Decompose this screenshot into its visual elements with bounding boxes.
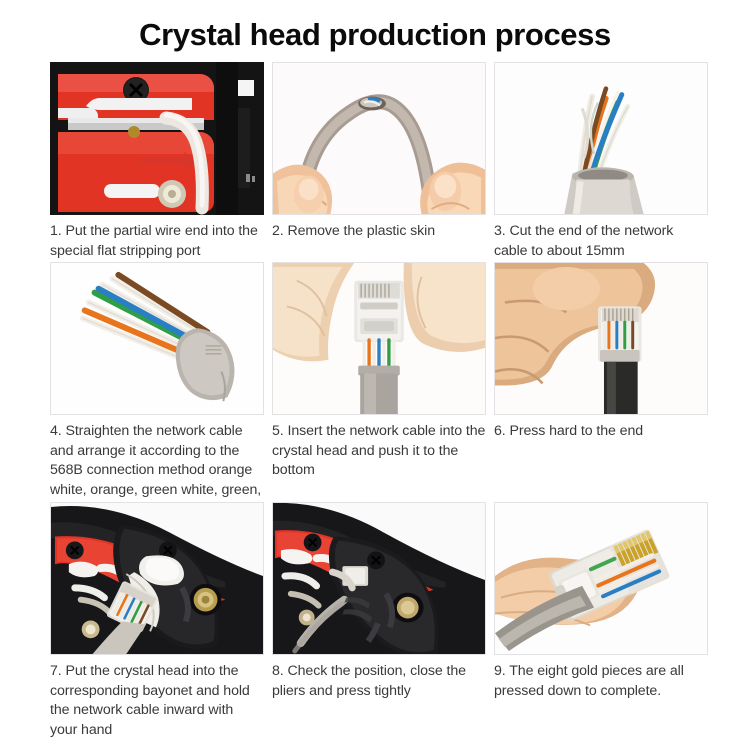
step-card-4: 4. Straighten the network cable and arra… xyxy=(50,262,264,539)
page-title: Crystal head production process xyxy=(0,0,750,54)
crimping-tool-flat-stripping-port-photo xyxy=(50,62,264,215)
crystal-head-in-bayonet-photo xyxy=(50,502,264,655)
step-card-2: 2. Remove the plastic skin xyxy=(272,62,486,242)
step-caption: 2. Remove the plastic skin xyxy=(272,215,486,242)
step-card-8: 8. Check the position, close the pliers … xyxy=(272,502,486,701)
step-caption: 8. Check the position, close the pliers … xyxy=(272,655,486,701)
step-card-9: 9. The eight gold pieces are all pressed… xyxy=(494,502,708,701)
insert-cable-into-crystal-head-photo xyxy=(272,262,486,415)
infographic-page: Crystal head production process xyxy=(0,0,750,750)
press-cable-to-end-photo xyxy=(494,262,708,415)
step-caption: 7. Put the crystal head into the corresp… xyxy=(50,655,264,740)
step-card-6: 6. Press hard to the end xyxy=(494,262,708,442)
step-card-1: 1. Put the partial wire end into the spe… xyxy=(50,62,264,261)
steps-grid: 1. Put the partial wire end into the spe… xyxy=(50,62,708,742)
cut-cable-end-photo xyxy=(494,62,708,215)
step-caption: 1. Put the partial wire end into the spe… xyxy=(50,215,264,261)
steps-row-1: 1. Put the partial wire end into the spe… xyxy=(50,62,708,262)
step-caption: 3. Cut the end of the network cable to a… xyxy=(494,215,708,261)
removing-plastic-skin-photo xyxy=(272,62,486,215)
step-caption: 9. The eight gold pieces are all pressed… xyxy=(494,655,708,701)
steps-row-3: 7. Put the crystal head into the corresp… xyxy=(50,502,708,742)
eight-gold-pieces-pressed-photo xyxy=(494,502,708,655)
step-card-5: 5. Insert the network cable into the cry… xyxy=(272,262,486,481)
steps-row-2: 4. Straighten the network cable and arra… xyxy=(50,262,708,502)
step-card-3: 3. Cut the end of the network cable to a… xyxy=(494,62,708,261)
close-pliers-press-photo xyxy=(272,502,486,655)
straightened-568b-wire-order-photo xyxy=(50,262,264,415)
step-card-7: 7. Put the crystal head into the corresp… xyxy=(50,502,264,740)
step-caption: 6. Press hard to the end xyxy=(494,415,708,442)
step-caption: 5. Insert the network cable into the cry… xyxy=(272,415,486,481)
